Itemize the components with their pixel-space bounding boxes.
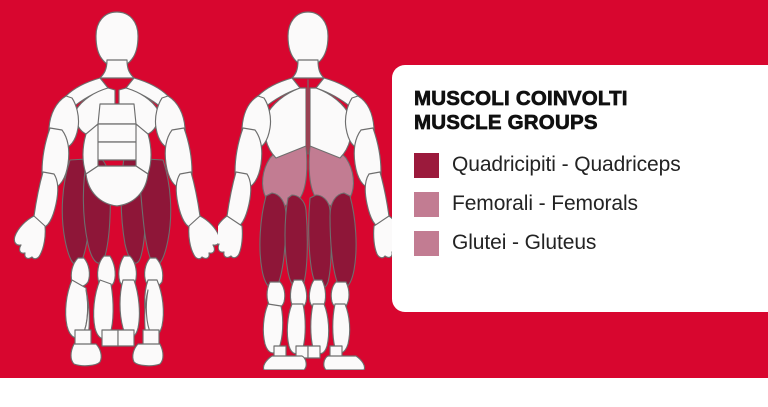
muscle-groups-legend-card: MUSCOLI COINVOLTI MUSCLE GROUPS Quadrici… [392,65,768,312]
anterior-body-diagram [12,8,222,370]
legend-label-quadriceps: Quadricipiti - Quadriceps [452,153,681,177]
legend-item-gluteus: Glutei - Gluteus [414,229,768,257]
legend-label-femorals: Femorali - Femorals [452,192,638,216]
legend-title: MUSCOLI COINVOLTI MUSCLE GROUPS [414,87,768,135]
legend-title-line-english: MUSCLE GROUPS [414,111,768,135]
legend-title-line-italian: MUSCOLI COINVOLTI [414,87,768,111]
legend-swatch-gluteus [414,231,439,256]
posterior-body-diagram [218,8,398,370]
legend-swatch-quadriceps [414,153,439,178]
legend-swatch-femorals [414,192,439,217]
legend-label-gluteus: Glutei - Gluteus [452,231,596,255]
legend-item-femorals: Femorali - Femorals [414,190,768,218]
legend-item-quadriceps: Quadricipiti - Quadriceps [414,151,768,179]
infographic-canvas: MUSCOLI COINVOLTI MUSCLE GROUPS Quadrici… [0,0,768,407]
